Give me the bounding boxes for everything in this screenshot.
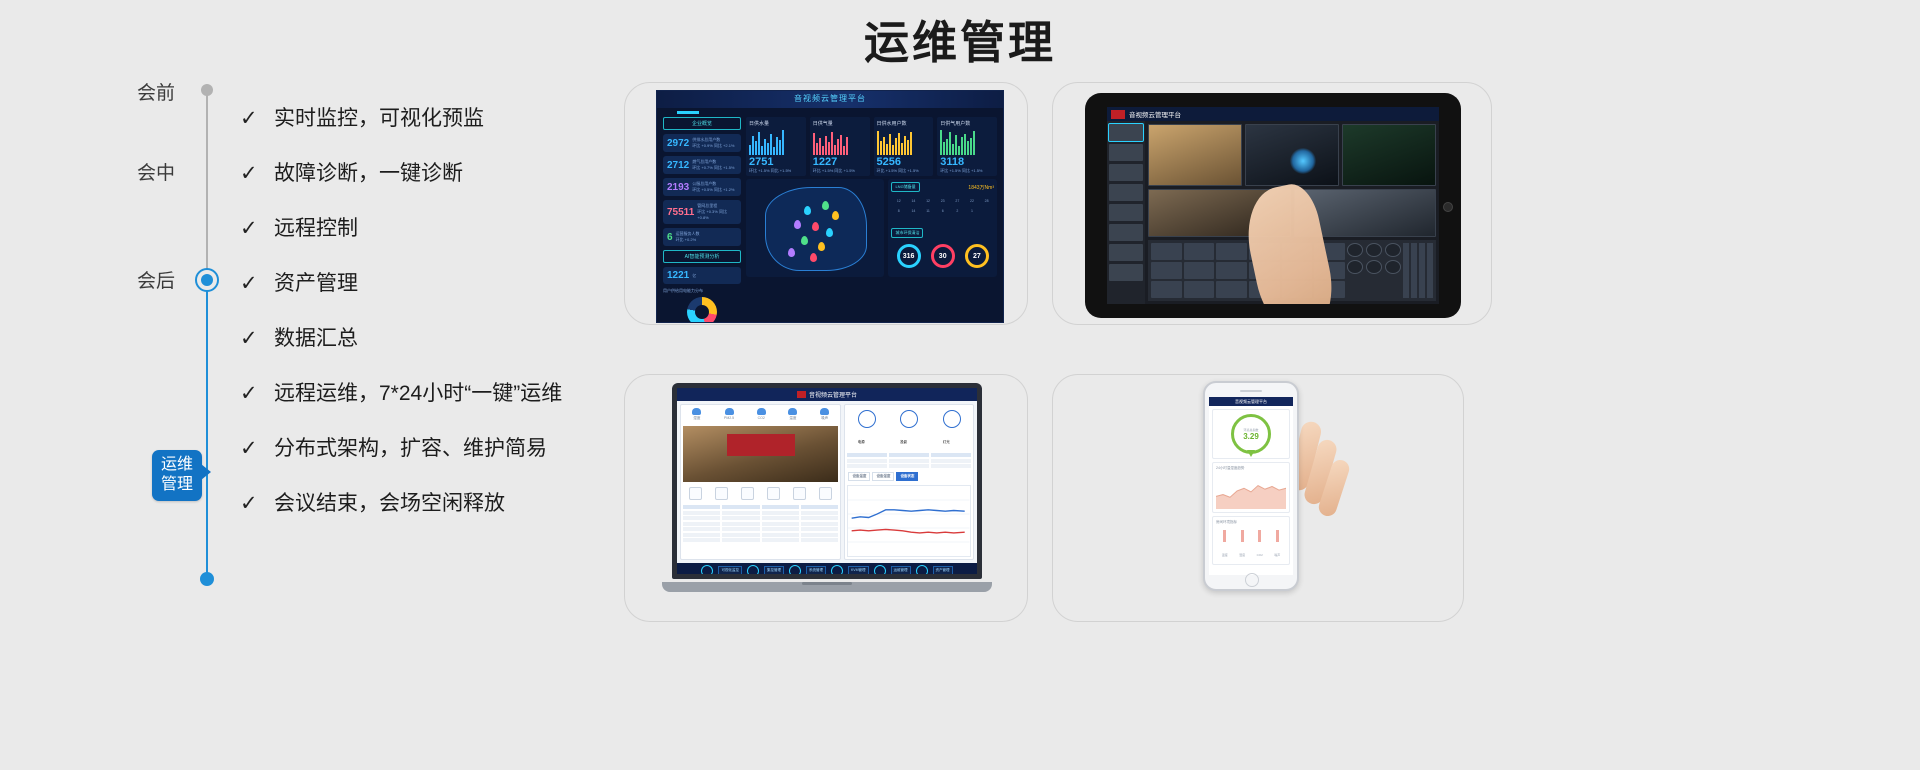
- check-icon: ✓: [240, 159, 274, 189]
- map-and-stats: LNG储备量 1843万Nm³ 12 14 12 23 27 22 28: [746, 179, 997, 277]
- brand-logo-icon: [797, 391, 806, 398]
- bar-panel-label: 日供水用户数: [877, 120, 931, 127]
- metric-item: 噪声: [1274, 530, 1280, 561]
- bar-panel-value: 2751: [749, 156, 803, 168]
- touch-indicator-icon: [1290, 148, 1316, 174]
- gauge: 30: [931, 244, 955, 268]
- conference-room-photo: [683, 426, 838, 482]
- ai-unit: 亿: [692, 273, 696, 279]
- document-icon[interactable]: [715, 487, 728, 500]
- check-icon: ✓: [240, 379, 274, 409]
- video-tile-selected[interactable]: [1245, 124, 1339, 186]
- check-icon: ✓: [240, 324, 274, 354]
- footer-ring-icon: [916, 565, 928, 575]
- trend-chart-svg: [848, 486, 970, 556]
- badge-line-2: 管理: [161, 475, 193, 495]
- footer-button-label[interactable]: 资产管理: [933, 566, 953, 574]
- trend-card-title: 24小时温湿度趋势: [1216, 466, 1286, 471]
- bar-panel: 日供水用户数 5256 环比 +1.5% 同比 +1.5%: [874, 117, 934, 176]
- noise-icon: [820, 408, 829, 415]
- map-pin[interactable]: [812, 222, 819, 231]
- chart-tabs[interactable]: 设备温度 设备湿度 设备状态: [845, 470, 973, 483]
- bar-panel-label: 日供气用户数: [940, 120, 994, 127]
- key[interactable]: [1151, 243, 1182, 260]
- grid-cell: 14: [906, 196, 921, 206]
- phone-area-chart-svg: [1216, 473, 1286, 509]
- environment-strip: 湿度 PM2.5 CO2 温度 噪声: [681, 405, 840, 424]
- bar-panel: 日供气用户数 3118 环比 +1.5% 同比 +1.5%: [937, 117, 997, 176]
- metrics-card-title: 房间环境指标: [1216, 520, 1286, 525]
- laptop-app-header: 音视频云管理平台: [677, 388, 977, 401]
- temperature-icon: [788, 408, 797, 415]
- bar-chart: [749, 129, 803, 155]
- metric-bar: [1223, 530, 1226, 542]
- key[interactable]: [1216, 281, 1247, 298]
- camera-thumbnail[interactable]: [1109, 204, 1143, 221]
- check-icon: ✓: [240, 104, 274, 134]
- kpi-card: 75511 管网总里程 环比 +0.3% 同比 +0.8%: [663, 200, 741, 224]
- fader[interactable]: [1403, 243, 1409, 298]
- list-item: ✓ 会议结束，会场空闲释放: [240, 489, 660, 519]
- grid-cell: 28: [979, 196, 994, 206]
- list-item: ✓ 故障诊断，一键诊断: [240, 159, 660, 189]
- bar-panel-deltas: 环比 +1.5% 同比 +1.5%: [813, 168, 867, 174]
- trend-chart: [847, 485, 971, 557]
- summary-table: [847, 453, 971, 468]
- room-monitor-panel: 湿度 PM2.5 CO2 温度 噪声: [680, 404, 841, 560]
- metric-columns: 温度 湿度 CO2 噪声: [1216, 527, 1286, 561]
- bar-panel-deltas: 环比 +1.5% 同比 +1.5%: [877, 168, 931, 174]
- timeline-dot-top: [201, 84, 213, 96]
- environment-item: 湿度: [692, 408, 701, 421]
- tab-device-temperature[interactable]: 设备温度: [848, 472, 870, 481]
- metrics-card: 房间环境指标 温度 湿度 CO2 噪声: [1212, 516, 1290, 565]
- stage-label-before: 会前: [137, 78, 175, 105]
- key[interactable]: [1216, 262, 1247, 279]
- kpi-value: 75511: [667, 207, 694, 218]
- map-pin[interactable]: [804, 206, 811, 215]
- trend-card: 24小时温湿度趋势: [1212, 462, 1290, 513]
- map-pin[interactable]: [801, 236, 808, 245]
- grid-cell: 8: [891, 206, 906, 216]
- key[interactable]: [1151, 281, 1182, 298]
- table-row[interactable]: [847, 464, 971, 468]
- action-button[interactable]: 电源: [858, 410, 876, 448]
- ai-value: 1221: [667, 270, 689, 281]
- grid-cell: 6: [935, 206, 950, 216]
- laptop-footer-nav: 可视化监控 集控管理 系统管理 KVM管理 运维管理 资产管理: [677, 563, 977, 574]
- list-item-label: 远程运维，7*24小时“一键”运维: [274, 379, 562, 409]
- page-title: 运维管理: [0, 6, 1920, 71]
- table-row[interactable]: [683, 511, 838, 515]
- timeline-badge-operations[interactable]: 运维 管理: [152, 450, 202, 501]
- list-item: ✓ 数据汇总: [240, 324, 660, 354]
- device-card-laptop: 音视频云管理平台 湿度 PM2.5 CO2 温度 噪声: [624, 374, 1028, 622]
- camera-icon[interactable]: [741, 487, 754, 500]
- bar-panel-deltas: 环比 +1.5% 同比 +1.5%: [940, 168, 994, 174]
- device-card-phone: 音视频云管理平台 环境总指数 3.29 24小时温湿度趋势: [1052, 374, 1464, 622]
- timeline-stage-labels: 会前 会中 会后: [0, 78, 175, 598]
- environment-label: 湿度: [692, 416, 701, 421]
- donut-label: 用户供给用电能力分布: [663, 288, 741, 294]
- camera-thumbnail[interactable]: [1109, 224, 1143, 241]
- footer-button-label[interactable]: 集控管理: [764, 566, 784, 574]
- list-item: ✓ 远程控制: [240, 214, 660, 244]
- camera-thumbnail[interactable]: [1109, 124, 1143, 141]
- tab-device-status[interactable]: 设备状态: [896, 472, 918, 481]
- ai-value-card: 1221 亿: [663, 267, 741, 284]
- kpi-card: 2193 公服总用户数 环比 +0.5% 同比 +1.2%: [663, 178, 741, 196]
- knob[interactable]: [1385, 260, 1401, 274]
- footer-button-label[interactable]: 可视化监控: [718, 566, 742, 574]
- action-button-row: 电源 投影 灯光: [845, 405, 973, 451]
- metric-bar: [1276, 530, 1279, 542]
- bar-chart: [940, 129, 994, 155]
- map-pin[interactable]: [822, 201, 829, 210]
- environment-label: CO2: [757, 416, 766, 420]
- laptop-base: [662, 582, 992, 592]
- phone-app-title: 音视频云管理平台: [1235, 399, 1267, 405]
- dashboard-title: 音视频云管理平台: [657, 93, 1003, 104]
- dashboard-body: 企业概览 2972 供排水总用户数 环比 +0.9% 同比 +2.1% 2712: [657, 108, 1003, 323]
- camera-thumbnail[interactable]: [1109, 264, 1143, 281]
- device-card-monitor: 音视频云管理平台 企业概览 2972 供排水总用户数 环比 +0.9% 同比 +…: [624, 82, 1028, 325]
- pen-icon[interactable]: [793, 487, 806, 500]
- laptop-screen: 音视频云管理平台 湿度 PM2.5 CO2 温度 噪声: [677, 388, 977, 574]
- grid-cell: 11: [921, 206, 936, 216]
- metric-label: 湿度: [1239, 553, 1245, 557]
- video-tile-map[interactable]: [1342, 124, 1436, 186]
- timeline-rail: [195, 80, 225, 590]
- gauge: 27: [965, 244, 989, 268]
- map-pin[interactable]: [832, 211, 839, 220]
- fader[interactable]: [1411, 243, 1417, 298]
- environment-item: 噪声: [820, 408, 829, 421]
- map-pins: [746, 179, 884, 277]
- badge-line-1: 运维: [161, 455, 193, 475]
- table-row[interactable]: [683, 538, 838, 542]
- footer-ring-icon: [789, 565, 801, 575]
- pm25-icon: [725, 408, 734, 415]
- search-icon[interactable]: [689, 487, 702, 500]
- check-icon: ✓: [240, 269, 274, 299]
- footer-ring-icon: [747, 565, 759, 575]
- kpi-card: 6 运营服务人数 环比 +0.2%: [663, 228, 741, 246]
- list-item-label: 远程控制: [274, 214, 358, 244]
- bar-panel-value: 3118: [940, 156, 994, 168]
- slide-root: 运维管理 会前 会中 会后 运维 管理 ✓ 实时监控，可视化预监 ✓ 故障诊断，…: [0, 0, 1920, 770]
- map-pin[interactable]: [794, 220, 801, 229]
- bar-panel: 日供水量 2751 环比 +1.5% 同比 +1.5%: [746, 117, 806, 176]
- list-item-label: 实时监控，可视化预监: [274, 104, 484, 134]
- knob[interactable]: [1366, 260, 1382, 274]
- home-button[interactable]: [1245, 573, 1259, 587]
- bar-chart: [813, 129, 867, 155]
- knob[interactable]: [1347, 243, 1363, 257]
- grid-cell: 2: [950, 206, 965, 216]
- list-item-label: 资产管理: [274, 269, 358, 299]
- key[interactable]: [1151, 262, 1182, 279]
- gauge-pill: 城市环保清洁: [891, 228, 923, 238]
- table-header-row: [847, 453, 971, 457]
- kpi-column-pill: 企业概览: [663, 117, 741, 130]
- grid-cell: 12: [921, 196, 936, 206]
- device-card-tablet: 音视频云管理平台: [1052, 82, 1492, 325]
- gauge-value: 3.29: [1243, 432, 1259, 441]
- stats-side-panel: LNG储备量 1843万Nm³ 12 14 12 23 27 22 28: [888, 179, 997, 277]
- lng-pill: LNG储备量: [891, 182, 919, 192]
- phone-app-header: 音视频云管理平台: [1209, 397, 1293, 406]
- timeline-line-upper: [206, 88, 208, 288]
- check-icon: ✓: [240, 489, 274, 519]
- bar-panel-value: 1227: [813, 156, 867, 168]
- fader[interactable]: [1419, 243, 1425, 298]
- list-item-label: 故障诊断，一键诊断: [274, 159, 463, 189]
- check-icon: ✓: [240, 434, 274, 464]
- environment-label: 温度: [788, 416, 797, 421]
- speaker-grille: [1240, 390, 1262, 392]
- dashboard-header: 音视频云管理平台: [657, 91, 1003, 108]
- metric-bar: [1241, 530, 1244, 542]
- environment-label: 噪声: [820, 416, 829, 421]
- map-pin[interactable]: [818, 242, 825, 251]
- laptop-content-row: 湿度 PM2.5 CO2 温度 噪声: [677, 401, 977, 563]
- metric-label: CO2: [1257, 553, 1263, 557]
- ai-pill: AI智能预测分析: [663, 250, 741, 263]
- kpi-meta: 环比 +0.2%: [676, 237, 700, 243]
- environment-index-card: 环境总指数 3.29: [1212, 409, 1290, 459]
- tablet-app-title: 音视频云管理平台: [1129, 109, 1181, 119]
- bar-panel-value: 5256: [877, 156, 931, 168]
- footer-button-label[interactable]: KVM管理: [848, 566, 869, 574]
- list-item-label: 会议结束，会场空闲释放: [274, 489, 505, 519]
- list-item: ✓ 分布式架构，扩容、维护简易: [240, 434, 660, 464]
- laptop-frame: 音视频云管理平台 湿度 PM2.5 CO2 温度 噪声: [672, 383, 982, 598]
- timeline-dot-bottom: [200, 572, 214, 586]
- brand-logo-icon: [1111, 110, 1125, 119]
- tab-device-humidity[interactable]: 设备湿度: [872, 472, 894, 481]
- environment-gauge: 环境总指数 3.29: [1231, 414, 1271, 454]
- bar-chart: [877, 129, 931, 155]
- laptop-lid: 音视频云管理平台 湿度 PM2.5 CO2 温度 噪声: [672, 383, 982, 579]
- check-icon: ✓: [240, 214, 274, 244]
- footer-button-label[interactable]: 系统管理: [806, 566, 826, 574]
- knob-group[interactable]: [1347, 243, 1401, 298]
- chart-icon[interactable]: [767, 487, 780, 500]
- list-item: ✓ 资产管理: [240, 269, 660, 299]
- kpi-meta: 环比 +0.5% 同比 +1.2%: [692, 187, 734, 193]
- phone-frame: 音视频云管理平台 环境总指数 3.29 24小时温湿度趋势: [1203, 381, 1299, 591]
- map-pin[interactable]: [826, 228, 833, 237]
- monitor-screen: 音视频云管理平台 企业概览 2972 供排水总用户数 环比 +0.9% 同比 +…: [656, 90, 1004, 323]
- footer-ring-icon: [874, 565, 886, 575]
- action-button-label: 灯光: [943, 440, 950, 444]
- metric-label: 噪声: [1274, 553, 1280, 557]
- environment-item: CO2: [757, 408, 766, 421]
- kpi-card: 2972 供排水总用户数 环比 +0.9% 同比 +2.1%: [663, 134, 741, 152]
- laptop-app-title: 音视频云管理平台: [809, 390, 857, 399]
- list-item-label: 数据汇总: [274, 324, 358, 354]
- metric-item: 温度: [1222, 530, 1228, 561]
- phone-area-chart: [1216, 473, 1286, 509]
- timeline-line-lower: [206, 280, 208, 585]
- key[interactable]: [1184, 262, 1215, 279]
- camera-thumbnail[interactable]: [1109, 184, 1143, 201]
- bar-panel-label: 日供水量: [749, 120, 803, 127]
- action-button-label: 投影: [900, 440, 907, 444]
- bar-panel-row: 日供水量 2751 环比 +1.5% 同比 +1.5% 日供气量: [746, 117, 997, 176]
- quick-action-icons[interactable]: [681, 484, 840, 503]
- camera-thumbnail[interactable]: [1109, 144, 1143, 161]
- kpi-meta: 环比 +0.7% 同比 +1.5%: [692, 165, 734, 171]
- list-item: ✓ 远程运维，7*24小时“一键”运维: [240, 379, 660, 409]
- metric-bar: [1258, 530, 1261, 542]
- region-map: [746, 179, 884, 277]
- bar-panel: 日供气量 1227 环比 +1.5% 同比 +1.5%: [810, 117, 870, 176]
- donut-chart: [687, 297, 717, 323]
- grid-cell: 12: [891, 196, 906, 206]
- grid-cell: 27: [950, 196, 965, 206]
- table-header-row: [683, 505, 838, 509]
- tablet-app-header: 音视频云管理平台: [1107, 107, 1439, 121]
- video-row-top: [1148, 124, 1436, 186]
- grid-cell: 1: [965, 206, 980, 216]
- humidity-icon: [692, 408, 701, 415]
- list-item-label: 分布式架构，扩容、维护简易: [274, 434, 547, 464]
- bar-panel-deltas: 环比 +1.5% 同比 +1.5%: [749, 168, 803, 174]
- metric-label: 温度: [1222, 553, 1228, 557]
- grid-cell: 23: [935, 196, 950, 206]
- table-row[interactable]: [683, 522, 838, 526]
- projector-icon: [900, 410, 918, 428]
- footer-button-label[interactable]: 运维管理: [891, 566, 911, 574]
- stage-label-during: 会中: [137, 158, 175, 185]
- device-table: [683, 505, 838, 542]
- map-pin[interactable]: [810, 253, 817, 262]
- gauge-row: 316 30 27: [891, 244, 994, 268]
- city-number-grid: 12 14 12 23 27 22 28 8 14 11 6: [891, 196, 994, 216]
- metric-item: 湿度: [1239, 530, 1245, 561]
- metric-item: CO2: [1257, 530, 1263, 561]
- action-button[interactable]: 灯光: [943, 410, 961, 448]
- stage-label-after: 会后: [137, 266, 175, 293]
- tablet-screen: 音视频云管理平台: [1107, 107, 1439, 304]
- kpi-value: 2712: [667, 160, 689, 171]
- lng-value: 1843万Nm³: [968, 184, 994, 191]
- dashboard-kpi-column: 企业概览 2972 供排水总用户数 环比 +0.9% 同比 +2.1% 2712: [663, 117, 741, 323]
- environment-item: PM2.5: [724, 408, 734, 421]
- light-icon: [943, 410, 961, 428]
- co2-icon: [757, 408, 766, 415]
- kpi-meta: 环比 +0.9% 同比 +2.1%: [692, 143, 734, 149]
- footer-ring-icon: [831, 565, 843, 575]
- kpi-value: 2972: [667, 138, 689, 149]
- gauge: 316: [897, 244, 921, 268]
- control-and-chart-panel: 电源 投影 灯光 设备温度 设备湿度: [844, 404, 974, 560]
- phone-screen: 音视频云管理平台 环境总指数 3.29 24小时温湿度趋势: [1209, 397, 1293, 575]
- kpi-value: 2193: [667, 182, 689, 193]
- camera-thumbnail-rail[interactable]: [1107, 121, 1145, 304]
- knob[interactable]: [1385, 243, 1401, 257]
- table-row[interactable]: [847, 459, 971, 463]
- grid-cell: 14: [906, 206, 921, 216]
- map-pin[interactable]: [788, 248, 795, 257]
- timeline-dot-active-core: [201, 274, 213, 286]
- dashboard-main-column: 日供水量 2751 环比 +1.5% 同比 +1.5% 日供气量: [746, 117, 997, 323]
- bar-panel-label: 日供气量: [813, 120, 867, 127]
- key[interactable]: [1216, 243, 1247, 260]
- key[interactable]: [1184, 243, 1215, 260]
- list-item: ✓ 实时监控，可视化预监: [240, 104, 660, 134]
- table-row[interactable]: [683, 527, 838, 531]
- table-row[interactable]: [683, 516, 838, 520]
- grid-cell: 22: [965, 196, 980, 206]
- tablet-frame: 音视频云管理平台: [1085, 93, 1461, 318]
- action-button[interactable]: 投影: [900, 410, 918, 448]
- fader-group[interactable]: [1403, 243, 1433, 298]
- fader[interactable]: [1427, 243, 1433, 298]
- light-icon[interactable]: [819, 487, 832, 500]
- knob[interactable]: [1347, 260, 1363, 274]
- feature-checklist: ✓ 实时监控，可视化预监 ✓ 故障诊断，一键诊断 ✓ 远程控制 ✓ 资产管理 ✓…: [240, 104, 660, 544]
- environment-label: PM2.5: [724, 416, 734, 420]
- key[interactable]: [1184, 281, 1215, 298]
- kpi-meta: 环比 +0.3% 同比 +0.8%: [697, 209, 737, 221]
- footer-ring-icon: [701, 565, 713, 575]
- camera-thumbnail[interactable]: [1109, 244, 1143, 261]
- table-row[interactable]: [683, 533, 838, 537]
- phone-in-hand: 音视频云管理平台 环境总指数 3.29 24小时温湿度趋势: [1145, 381, 1375, 621]
- action-button-label: 电源: [858, 440, 865, 444]
- knob[interactable]: [1366, 243, 1382, 257]
- environment-item: 温度: [788, 408, 797, 421]
- video-tile[interactable]: [1148, 124, 1242, 186]
- power-icon: [858, 410, 876, 428]
- kpi-value: 6: [667, 232, 673, 243]
- camera-thumbnail[interactable]: [1109, 164, 1143, 181]
- kpi-card: 2712 燃气总用户数 环比 +0.7% 同比 +1.5%: [663, 156, 741, 174]
